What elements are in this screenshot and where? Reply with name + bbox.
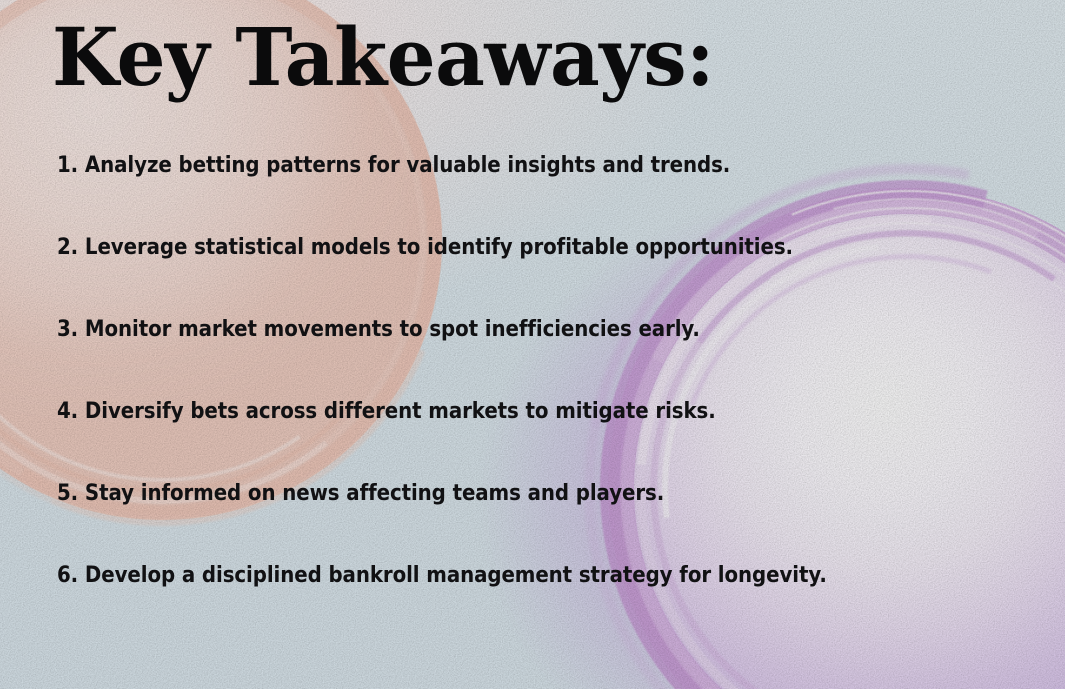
list-item: 3. Monitor market movements to spot inef… xyxy=(57,316,921,344)
list-item: 2. Leverage statistical models to identi… xyxy=(57,234,921,262)
takeaways-list: 1. Analyze betting patterns for valuable… xyxy=(57,152,1017,590)
list-item: 1. Analyze betting patterns for valuable… xyxy=(57,152,921,180)
key-takeaways-card: Key Takeaways: 1. Analyze betting patter… xyxy=(0,0,1065,689)
page-title: Key Takeaways: xyxy=(52,17,714,97)
card-content: Key Takeaways: 1. Analyze betting patter… xyxy=(0,0,1065,689)
list-item: 6. Develop a disciplined bankroll manage… xyxy=(57,562,921,590)
list-item: 5. Stay informed on news affecting teams… xyxy=(57,480,921,508)
list-item: 4. Diversify bets across different marke… xyxy=(57,398,921,426)
